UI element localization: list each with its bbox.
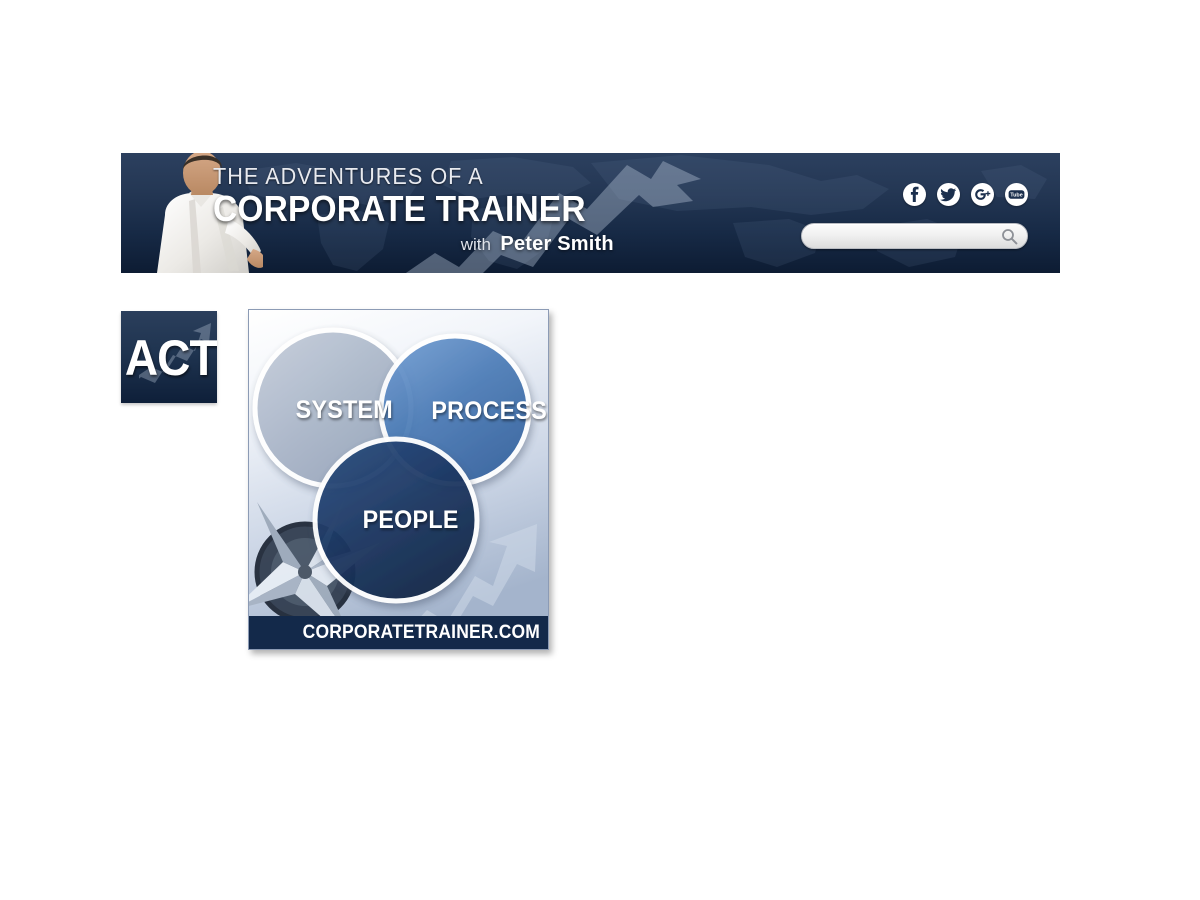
social-links: Tube bbox=[903, 183, 1028, 206]
googleplus-icon[interactable] bbox=[971, 183, 994, 206]
youtube-icon[interactable]: Tube bbox=[1005, 183, 1028, 206]
header-title-block: THE ADVENTURES OF A CORPORATE TRAINER wi… bbox=[213, 164, 614, 256]
act-badge[interactable]: ACT bbox=[121, 311, 217, 403]
search-input[interactable] bbox=[802, 224, 997, 248]
featured-image-footer: CORPORATETRAINER.COM bbox=[249, 616, 548, 649]
search-box[interactable] bbox=[801, 223, 1028, 249]
search-submit-button[interactable] bbox=[997, 224, 1027, 248]
header-title-line1: THE ADVENTURES OF A bbox=[213, 164, 590, 188]
site-header: THE ADVENTURES OF A CORPORATE TRAINER wi… bbox=[121, 153, 1060, 273]
site-url-label: CORPORATETRAINER.COM bbox=[303, 622, 540, 644]
header-title-line2: CORPORATE TRAINER bbox=[213, 190, 586, 229]
facebook-icon[interactable] bbox=[903, 183, 926, 206]
circle-people bbox=[315, 439, 477, 601]
host-name: Peter Smith bbox=[500, 233, 613, 255]
featured-image-card[interactable]: SYSTEM PROCESS PEOPLE CORPORATETRAINER.C… bbox=[248, 309, 549, 650]
header-host-line: with Peter Smith bbox=[213, 233, 614, 256]
svg-text:Tube: Tube bbox=[1010, 193, 1022, 199]
act-badge-label: ACT bbox=[125, 333, 213, 383]
venn-diagram: SYSTEM PROCESS PEOPLE bbox=[249, 310, 548, 649]
with-label: with bbox=[461, 235, 491, 254]
twitter-icon[interactable] bbox=[937, 183, 960, 206]
search-icon bbox=[1001, 228, 1018, 245]
